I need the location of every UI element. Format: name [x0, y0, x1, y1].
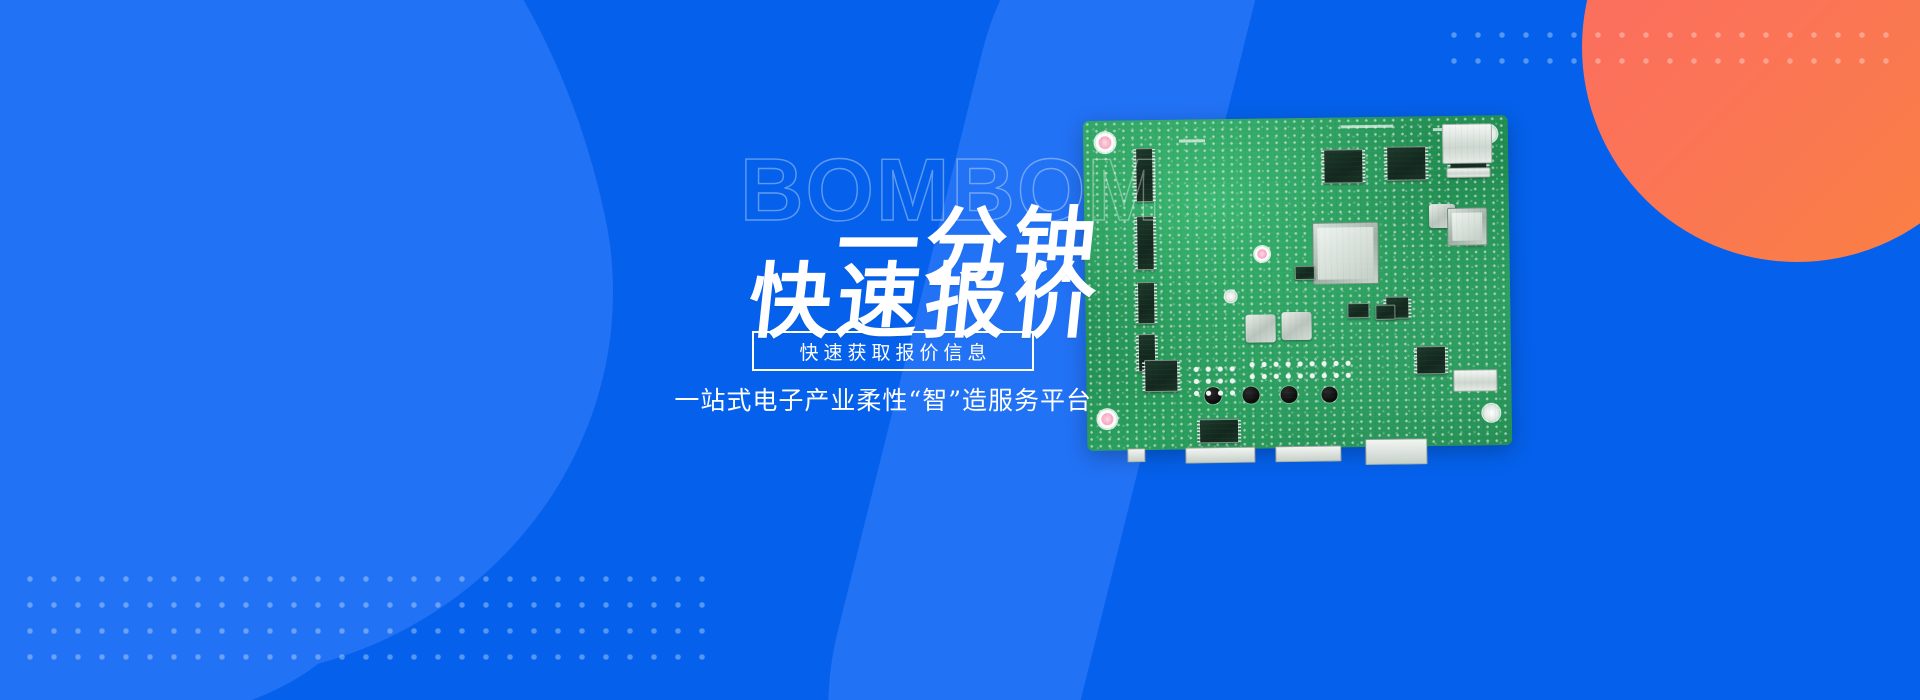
pcb-pad-array — [1190, 363, 1238, 400]
pcb-memory-chip — [1137, 282, 1156, 324]
pcb-memory-chip — [1135, 148, 1154, 202]
pcb-edge-connector — [1275, 445, 1341, 462]
pcb-silkscreen — [1433, 128, 1467, 131]
pcb-edge-connector — [1185, 447, 1255, 464]
pcb-edge-connector — [1365, 438, 1427, 465]
pcb-processor — [1312, 222, 1379, 285]
pcb-memory-chip — [1138, 334, 1157, 372]
pcb-qfp-chip — [1144, 360, 1178, 392]
pcb-capacitor — [1242, 387, 1259, 404]
pcb-smd-chip — [1347, 303, 1369, 318]
pcb-capacitor — [1204, 387, 1221, 404]
pcb-mount-hole — [1098, 410, 1117, 429]
pcb-test-pad — [1225, 291, 1236, 302]
pcb-ic-chip — [1323, 149, 1363, 184]
pcb-test-pad — [1254, 246, 1269, 261]
pcb-smd-chip — [1375, 305, 1395, 320]
pcb-pad-array — [1246, 357, 1356, 383]
pcb-mount-hole — [1483, 404, 1500, 421]
pcb-silkscreen — [1341, 125, 1393, 129]
pcb-substrate — [1083, 115, 1513, 451]
pcb-circuit-board — [1083, 115, 1513, 451]
pcb-qfp-chip — [1385, 296, 1409, 318]
pcb-qfp-chip — [1416, 346, 1446, 374]
pcb-chip-right — [1447, 207, 1488, 246]
pcb-mount-hole — [1095, 133, 1115, 153]
pcb-capacitor — [1321, 386, 1337, 402]
pcb-silkscreen — [1179, 139, 1205, 142]
pcb-inductor — [1462, 223, 1484, 245]
pcb-inductor — [1245, 314, 1275, 342]
pcb-qfp-chip — [1199, 419, 1239, 444]
pcb-ic-chip — [1386, 146, 1426, 181]
pcb-inductor — [1429, 204, 1455, 228]
pcb-connector-shield — [1442, 123, 1493, 164]
pcb-memory-chip — [1136, 216, 1155, 270]
decor-dot-grid-bottom-left — [18, 566, 718, 670]
decor-dot-grid-top-right — [1442, 22, 1902, 74]
pcb-ic-chip — [1449, 143, 1487, 178]
pcb-pad-texture — [1083, 115, 1513, 451]
pcb-connector-shield — [1446, 167, 1490, 178]
pcb-smd-chip — [1295, 266, 1315, 280]
pcb-edge-connector — [1127, 448, 1145, 462]
promo-banner: BOMBOM 一分钟 快速报价 快速获取报价信息 一站式电子产业柔性“智”造服务… — [0, 0, 1920, 700]
pcb-connector-small — [1453, 369, 1497, 392]
pcb-mount-hole — [1480, 125, 1497, 142]
pcb-inductor — [1281, 312, 1311, 340]
pcb-capacitor — [1280, 386, 1297, 403]
